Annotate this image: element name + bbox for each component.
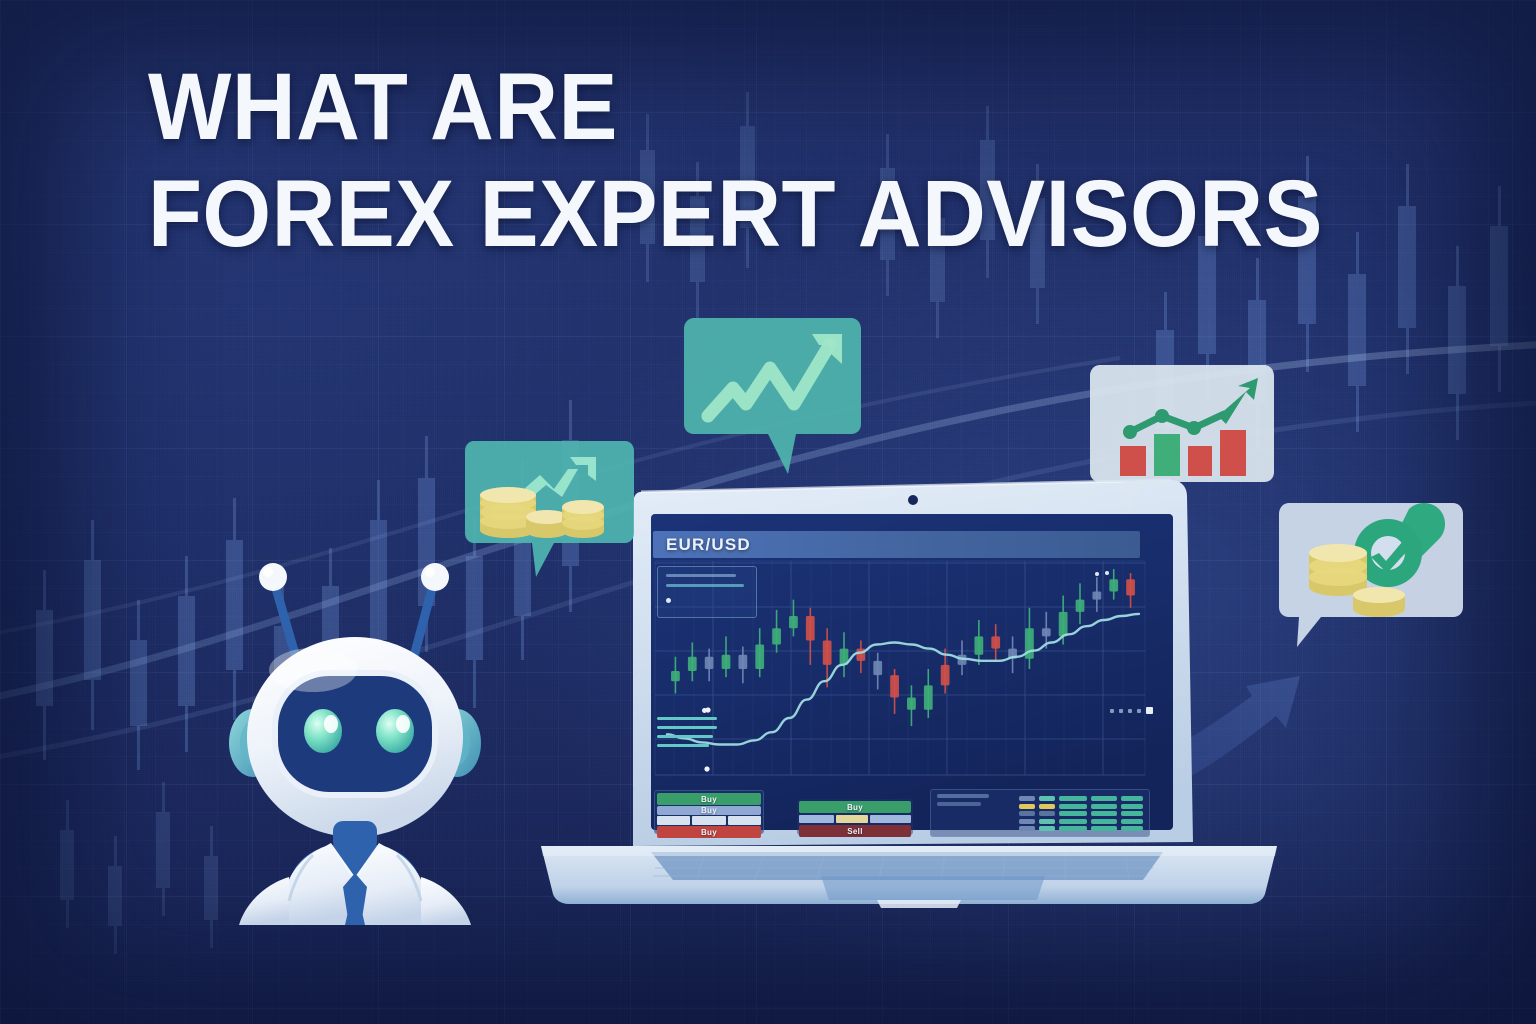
candle-body: [873, 661, 882, 675]
candle-body: [1076, 600, 1085, 612]
chart-marker: [1095, 572, 1099, 576]
data-panel-grid: [1019, 796, 1143, 831]
info-dot: [666, 598, 671, 603]
chart-toolbar[interactable]: [1110, 707, 1153, 714]
forex-expert-advisors-banner: WHAT ARE FOREX EXPERT ADVISORS: [0, 0, 1536, 1024]
candle-body: [1109, 579, 1118, 591]
data-pill: [1059, 819, 1087, 824]
data-pill: [1091, 826, 1117, 831]
bubble-bar-chart: [1088, 360, 1278, 515]
data-panel-subheading: [937, 802, 981, 806]
data-pill: [1121, 826, 1143, 831]
data-pill: [1091, 819, 1117, 824]
robot-head: [247, 637, 463, 837]
candle-body: [974, 636, 983, 654]
order-input-cell[interactable]: [870, 815, 911, 823]
data-pill: [1059, 796, 1087, 801]
data-pill: [1039, 826, 1055, 831]
trading-app-screen: EUR/USD Buy: [645, 527, 1165, 840]
ticker-bar[interactable]: EUR/USD: [653, 531, 1140, 558]
candle-body: [772, 628, 781, 644]
data-pill: [1121, 819, 1143, 824]
candle-body: [924, 685, 933, 709]
data-column: [1039, 796, 1055, 831]
candle-body: [789, 616, 798, 628]
data-pill: [1091, 811, 1117, 816]
data-pill: [1091, 804, 1117, 809]
order-input-cell[interactable]: [799, 815, 834, 823]
robot-eye-left: [304, 709, 342, 753]
candle-body: [671, 671, 680, 681]
order-panel-right[interactable]: Buy Sell: [797, 799, 913, 835]
legend-row: [657, 726, 717, 729]
legend-row: [657, 735, 713, 738]
buy-label: Buy: [701, 806, 717, 815]
data-pill: [1121, 811, 1143, 816]
data-pill: [1019, 826, 1035, 831]
order-input-cell[interactable]: [657, 816, 690, 825]
data-pill: [1059, 826, 1087, 831]
data-column: [1059, 796, 1087, 831]
data-pill: [1039, 804, 1055, 809]
data-pill: [1019, 811, 1035, 816]
data-pill: [1039, 796, 1055, 801]
laptop-trackpad: [821, 876, 1045, 900]
buy-button-mid[interactable]: Buy: [657, 806, 761, 815]
webcam-icon: [908, 495, 918, 505]
data-pill: [1019, 804, 1035, 809]
toolbar-dot-icon[interactable]: [1110, 709, 1114, 713]
chart-marker: [1105, 571, 1109, 575]
candle-body: [755, 645, 764, 669]
buy-button-bottom[interactable]: Buy: [657, 826, 761, 838]
bubble-verified-profit: [1275, 487, 1470, 652]
chart-marker: [704, 766, 709, 771]
order-input-cell[interactable]: [692, 816, 725, 825]
legend-row: [657, 744, 709, 747]
data-column: [1121, 796, 1143, 831]
candle-body: [991, 636, 1000, 648]
order-input-row[interactable]: [799, 815, 911, 823]
data-pill: [1019, 796, 1035, 801]
toolbar-dot-icon[interactable]: [1137, 709, 1141, 713]
candle-body: [907, 698, 916, 710]
legend-dot: [702, 708, 707, 713]
data-pill: [1121, 796, 1143, 801]
legend-row: [657, 717, 717, 720]
data-pill: [1019, 819, 1035, 824]
candle-body: [823, 640, 832, 664]
data-pill: [1059, 804, 1087, 809]
data-pill: [1039, 811, 1055, 816]
robot-arm-left: [239, 877, 289, 925]
candle-body: [806, 616, 815, 640]
bubble-uptrend: [680, 312, 865, 482]
toolbar-dot-icon[interactable]: [1128, 709, 1132, 713]
buy-button-top[interactable]: Buy: [657, 793, 761, 805]
toolbar-square-icon[interactable]: [1146, 707, 1153, 714]
order-panel-left[interactable]: Buy Buy Buy: [654, 790, 764, 834]
data-column: [1091, 796, 1117, 831]
order-input-row[interactable]: [657, 816, 761, 825]
data-pill: [1091, 796, 1117, 801]
candle-body: [705, 657, 714, 669]
buy-button[interactable]: Buy: [799, 801, 911, 813]
candle-body: [738, 655, 747, 669]
info-line: [666, 584, 744, 587]
buy-label: Buy: [701, 795, 717, 804]
chart-info-card: [657, 566, 757, 618]
candle-body: [1059, 612, 1068, 636]
buy-label: Buy: [847, 803, 863, 812]
toolbar-dot-icon[interactable]: [1119, 709, 1123, 713]
candle-body: [1092, 591, 1101, 599]
candle-body: [890, 675, 899, 697]
title-line-1: WHAT ARE: [148, 62, 1323, 153]
sell-label: Sell: [847, 827, 862, 836]
data-pill: [1059, 811, 1087, 816]
data-pill: [1121, 804, 1143, 809]
chart-legend: [657, 717, 723, 753]
data-panel: [930, 789, 1150, 837]
chart-trendline: [667, 614, 1139, 745]
candle-body: [722, 655, 731, 669]
candle-body: [1042, 628, 1051, 636]
robot-body: [239, 843, 471, 925]
data-panel-heading: [937, 794, 989, 798]
candle-body: [1126, 579, 1135, 595]
order-input-cell[interactable]: [728, 816, 761, 825]
data-pill: [1039, 819, 1055, 824]
sell-button[interactable]: Sell: [799, 825, 911, 837]
bubble-coins-growth: [462, 435, 637, 585]
data-column: [1019, 796, 1035, 831]
candle-body: [941, 665, 950, 685]
buy-label: Buy: [701, 828, 717, 837]
robot-mascot: [205, 525, 505, 925]
ticker-symbol-label: EUR/USD: [653, 535, 751, 555]
order-input-cell-highlight[interactable]: [836, 815, 868, 823]
title-line-2: FOREX EXPERT ADVISORS: [148, 169, 1323, 260]
page-title: WHAT ARE FOREX EXPERT ADVISORS: [148, 62, 1411, 260]
info-line: [666, 574, 736, 577]
robot-eye-right: [376, 709, 414, 753]
candle-body: [688, 657, 697, 671]
robot-arm-right: [421, 877, 471, 925]
